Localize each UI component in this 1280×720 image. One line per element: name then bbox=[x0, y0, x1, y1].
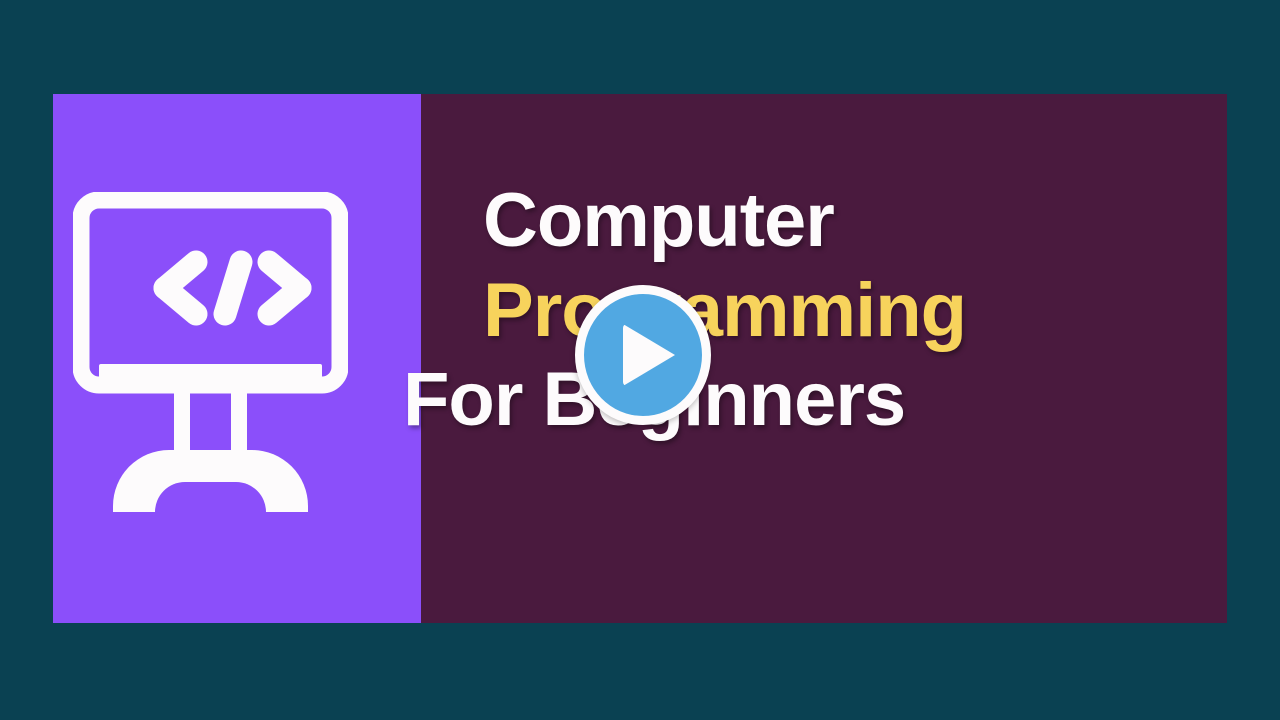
play-button[interactable] bbox=[575, 285, 711, 425]
icon-panel bbox=[53, 94, 421, 623]
computer-monitor-code-icon bbox=[73, 192, 348, 522]
play-triangle-icon bbox=[623, 324, 675, 386]
title-line-1: Computer bbox=[483, 182, 1103, 260]
thumbnail-title: Computer Programming For Beginners bbox=[483, 182, 1103, 439]
thumbnail-canvas: Computer Programming For Beginners bbox=[0, 0, 1280, 720]
title-panel: Computer Programming For Beginners bbox=[421, 94, 1227, 623]
title-line-3: For Beginners bbox=[403, 361, 1103, 439]
